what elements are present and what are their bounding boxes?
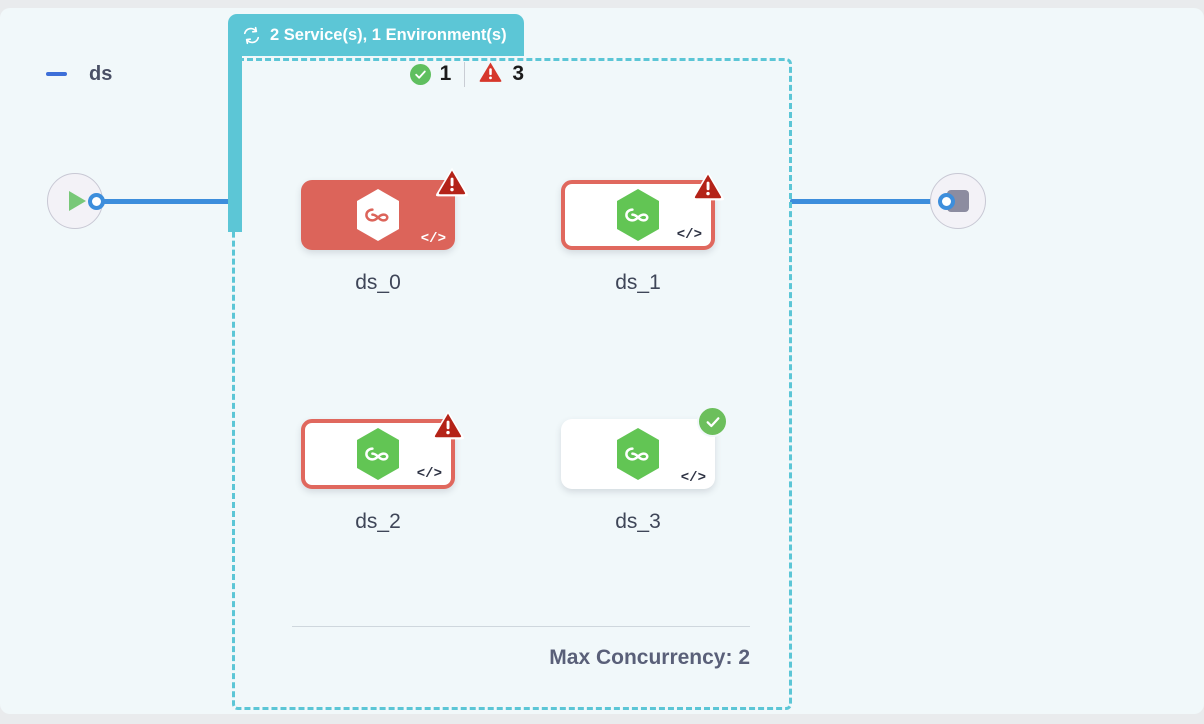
- group-title: ds: [89, 63, 112, 86]
- node-card[interactable]: </>: [561, 180, 715, 250]
- play-icon: [69, 191, 86, 211]
- warning-count: 3: [512, 62, 524, 86]
- group-dashed-boundary: [232, 58, 792, 710]
- status-divider: [464, 62, 465, 87]
- collapse-minus-icon[interactable]: [46, 72, 67, 76]
- code-brackets-icon: </>: [421, 232, 446, 246]
- edge-start-to-group: [96, 199, 240, 204]
- status-summary: 1 3: [410, 60, 524, 88]
- success-count: 1: [440, 62, 452, 86]
- hexagon-infinity-logo: [354, 188, 402, 242]
- check-circle-icon: [410, 64, 431, 85]
- node-card[interactable]: </>: [301, 180, 455, 250]
- node-item-ds_1[interactable]: </> ds_1: [538, 180, 738, 295]
- node-card[interactable]: </>: [301, 419, 455, 489]
- code-brackets-icon: </>: [677, 228, 702, 242]
- node-item-ds_2[interactable]: </> ds_2: [278, 419, 478, 534]
- group-footer-divider: [292, 626, 750, 627]
- max-concurrency-label: Max Concurrency: 2: [292, 646, 750, 670]
- hexagon-infinity-logo: [354, 427, 402, 481]
- flow-canvas[interactable]: 2 Service(s), 1 Environment(s) ds 1 3: [0, 8, 1204, 714]
- code-brackets-icon: </>: [681, 471, 706, 485]
- code-brackets-icon: </>: [417, 467, 442, 481]
- warning-triangle-icon: [431, 409, 465, 440]
- hexagon-infinity-logo: [614, 427, 662, 481]
- node-label: ds_1: [538, 271, 738, 295]
- check-circle-icon: [697, 406, 728, 437]
- node-item-ds_3[interactable]: </> ds_3: [538, 419, 738, 534]
- service-group: 2 Service(s), 1 Environment(s): [228, 14, 796, 712]
- node-label: ds_0: [278, 271, 478, 295]
- node-card[interactable]: </>: [561, 419, 715, 489]
- warning-triangle-icon: [478, 60, 503, 88]
- refresh-cycle-icon: [242, 26, 261, 45]
- node-label: ds_2: [278, 510, 478, 534]
- edge-group-to-end: [790, 199, 948, 204]
- end-node-input-port-icon[interactable]: [938, 193, 955, 210]
- warning-triangle-icon: [435, 166, 469, 197]
- hexagon-infinity-logo: [614, 188, 662, 242]
- node-item-ds_0[interactable]: </> ds_0: [278, 180, 478, 295]
- warning-triangle-icon: [691, 170, 725, 201]
- node-label: ds_3: [538, 510, 738, 534]
- group-tab-label: 2 Service(s), 1 Environment(s): [270, 26, 507, 45]
- group-tab[interactable]: 2 Service(s), 1 Environment(s): [228, 14, 524, 56]
- start-node-output-port-icon[interactable]: [88, 193, 105, 210]
- group-header: ds 1 3: [46, 56, 524, 92]
